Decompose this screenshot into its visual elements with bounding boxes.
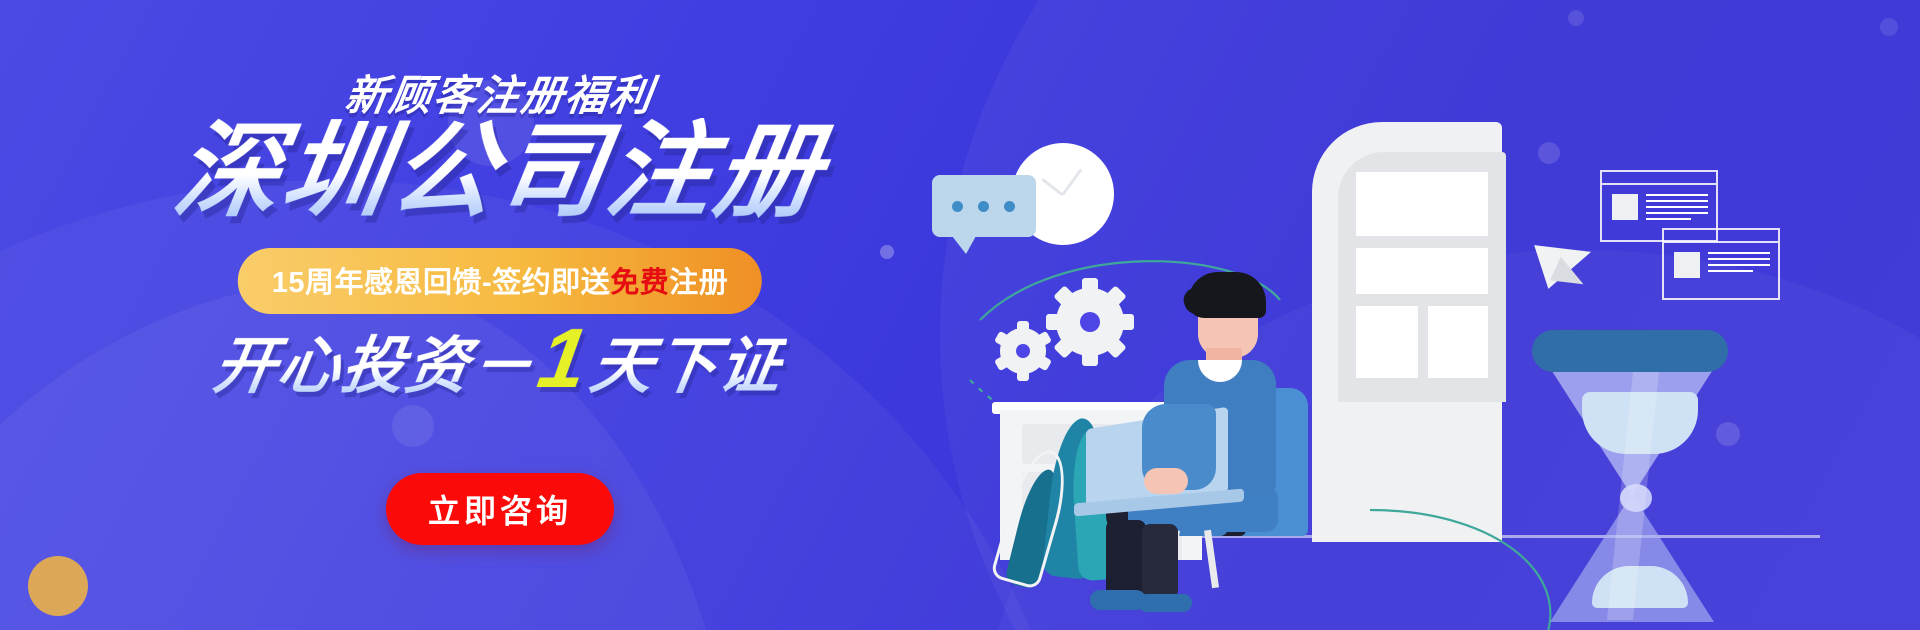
person-hand bbox=[1144, 468, 1188, 494]
banner-copy: 新顾客注册福利 深圳公司注册 15周年感恩回馈-签约即送免费注册 开心投资－1天… bbox=[0, 0, 1000, 630]
document-card-2 bbox=[1662, 228, 1780, 300]
person-shoe-2 bbox=[1138, 594, 1192, 612]
hourglass-cap bbox=[1532, 330, 1728, 372]
promo-pill-highlight: 免费 bbox=[610, 267, 669, 299]
document-lines-1 bbox=[1646, 194, 1708, 224]
document-lines-2 bbox=[1708, 252, 1770, 276]
promo-banner: 新顾客注册福利 深圳公司注册 15周年感恩回馈-签约即送免费注册 开心投资－1天… bbox=[0, 0, 1920, 630]
tagline-before: 开心投资－ bbox=[209, 332, 540, 401]
document-thumbnail-2 bbox=[1674, 252, 1700, 278]
person-hair bbox=[1188, 272, 1266, 318]
tagline-after: 天下证 bbox=[586, 332, 789, 401]
headline-text: 深圳公司注册 bbox=[0, 118, 1009, 227]
person-shin-1 bbox=[1106, 520, 1146, 598]
promo-pill: 15周年感恩回馈-签约即送免费注册 bbox=[238, 248, 762, 314]
person-shin-2 bbox=[1142, 524, 1178, 598]
promo-pill-prefix: 15周年感恩回馈-签约即送 bbox=[272, 267, 610, 299]
tagline: 开心投资－1天下证 bbox=[0, 310, 1008, 407]
consult-now-button[interactable]: 立即咨询 bbox=[386, 473, 614, 545]
promo-pill-suffix: 注册 bbox=[669, 267, 728, 299]
illustration-scene bbox=[1080, 0, 1920, 630]
document-thumbnail-1 bbox=[1612, 194, 1638, 220]
